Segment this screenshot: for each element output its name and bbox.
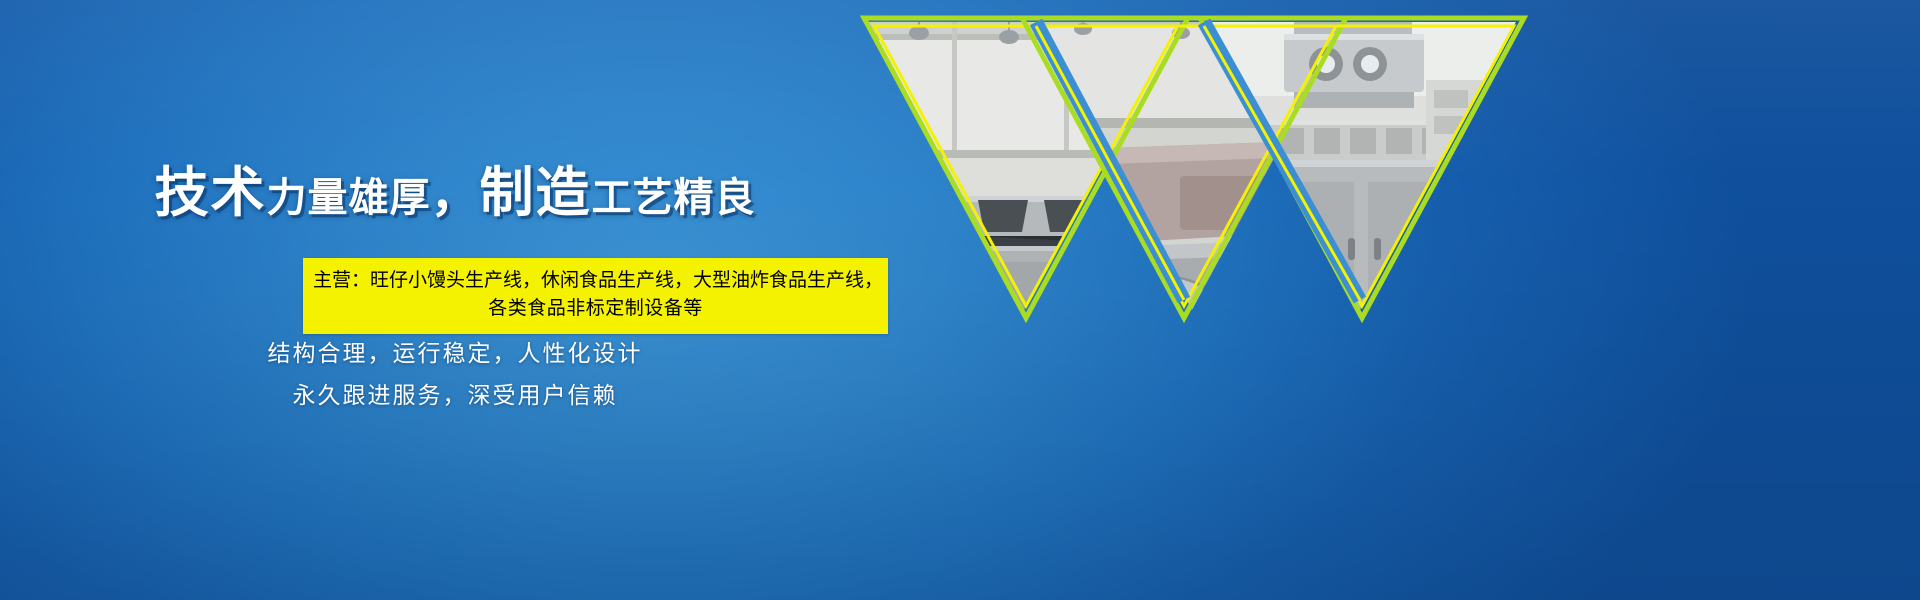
headline-part-3: 制造 — [480, 163, 592, 223]
subtitle-line-2: 永久跟进服务，深受用户信赖 — [0, 374, 910, 416]
banner-text-block: 技术力量雄厚，制造工艺精良 主营：旺仔小馒头生产线，休闲食品生产线，大型油炸食品… — [0, 0, 910, 600]
banner-subtitle: 结构合理，运行稳定，人性化设计 永久跟进服务，深受用户信赖 — [0, 332, 910, 416]
headline-part-4: 工艺精良 — [592, 176, 756, 220]
product-photo-collage — [840, 0, 1920, 600]
business-scope-line-1: 主营：旺仔小馒头生产线，休闲食品生产线，大型油炸食品生产线， — [313, 267, 878, 295]
headline-part-2: 力量雄厚 — [266, 176, 430, 220]
headline-comma: ， — [430, 169, 479, 222]
headline-part-1: 技术 — [154, 163, 266, 223]
business-scope-line-2: 各类食品非标定制设备等 — [313, 295, 878, 323]
subtitle-line-1: 结构合理，运行稳定，人性化设计 — [0, 332, 910, 374]
page-title: 技术力量雄厚，制造工艺精良 — [0, 155, 910, 229]
promo-banner: 技术力量雄厚，制造工艺精良 主营：旺仔小馒头生产线，休闲食品生产线，大型油炸食品… — [0, 0, 1920, 600]
business-scope-highlight: 主营：旺仔小馒头生产线，休闲食品生产线，大型油炸食品生产线， 各类食品非标定制设… — [303, 258, 888, 334]
collage-blue-separators — [990, 240, 1068, 318]
